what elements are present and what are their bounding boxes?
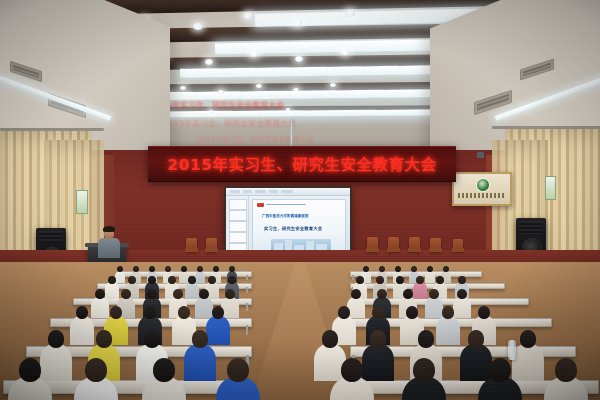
conference-banner-text: 2015年实习生、研究生安全教育大会 — [167, 153, 436, 175]
audience-member-head — [338, 306, 350, 319]
audience-member-head — [341, 358, 363, 382]
audience-member-body — [115, 271, 126, 284]
audience-member-head — [85, 358, 107, 382]
audience-area — [0, 262, 600, 400]
stage-chair-seat — [366, 248, 379, 252]
audience-member-head — [192, 330, 208, 348]
audience-member-body — [70, 316, 95, 345]
slide-thumbnail — [229, 232, 247, 243]
audience-member-head — [128, 276, 135, 284]
audience-member-head — [520, 330, 536, 348]
audience-member-body — [184, 344, 217, 382]
wall-device-box — [477, 152, 484, 158]
stage-chair — [430, 238, 441, 252]
water-bottle — [508, 340, 516, 360]
stage-chair — [367, 237, 378, 252]
audience-member-head — [351, 289, 360, 299]
slide-thumbnail — [229, 210, 247, 221]
stage-chair — [186, 238, 197, 252]
stage-chair — [453, 239, 463, 252]
audience-member-head — [228, 276, 235, 284]
audience-member-head — [199, 289, 208, 299]
audience-member-head — [95, 289, 104, 299]
audience-member-head — [165, 266, 170, 272]
curtain-rail-left — [0, 128, 104, 131]
audience-member-head — [173, 289, 182, 299]
slide-rule — [266, 204, 306, 205]
audience-member-head — [178, 306, 190, 319]
audience-member-head — [168, 276, 175, 284]
powerpoint-tab — [255, 190, 266, 193]
audience-member-body — [425, 271, 436, 284]
audience-member-head — [468, 330, 484, 348]
audience-member-head — [133, 266, 138, 272]
audience-member-body — [425, 297, 444, 319]
wall-notice-sign-left — [76, 190, 88, 214]
audience-member-head — [478, 306, 490, 319]
audience-member-body — [413, 282, 427, 299]
audience-member-head — [377, 289, 386, 299]
audience-member-head — [363, 266, 368, 272]
wall-plaque — [452, 172, 512, 206]
desk-leg — [246, 303, 248, 311]
stage-chair-seat — [408, 248, 421, 252]
ceiling-downlight — [341, 49, 349, 55]
audience-member-head — [108, 276, 115, 284]
loudspeaker-grill — [39, 231, 63, 243]
audience-member-head — [225, 289, 234, 299]
audience-member-head — [213, 266, 218, 272]
stage-chair-seat — [429, 248, 442, 252]
audience-member-head — [458, 276, 465, 284]
institution-emblem-icon — [476, 178, 490, 192]
powerpoint-tab — [230, 190, 240, 193]
audience-member-head — [442, 306, 454, 319]
audience-member-head — [356, 276, 363, 284]
audience-member-head — [395, 266, 400, 272]
stage-chair-seat — [452, 248, 464, 252]
audience-member-body — [40, 344, 73, 382]
audience-member-head — [370, 330, 386, 348]
audience-member-body — [206, 316, 231, 345]
audience-member-body — [460, 344, 493, 382]
audience-member-head — [148, 276, 155, 284]
powerpoint-toolbar — [226, 188, 350, 196]
audience-member-head — [144, 330, 160, 348]
presenter-hair — [103, 226, 115, 232]
audience-member-head — [48, 330, 64, 348]
audience-member-head — [457, 289, 466, 299]
wall-notice-sign-right — [545, 176, 556, 200]
audience-member-head — [96, 330, 112, 348]
stage-chair — [388, 237, 399, 252]
desk-leg — [352, 275, 354, 280]
audience-member-body — [195, 297, 214, 319]
powerpoint-tab — [281, 190, 293, 193]
audience-member-body — [185, 282, 199, 299]
stage-chair-seat — [205, 248, 218, 252]
audience-member-head — [197, 266, 202, 272]
audience-member-head — [429, 289, 438, 299]
audience-member-head — [411, 266, 416, 272]
audience-member-head — [372, 306, 384, 319]
audience-member-head — [212, 306, 224, 319]
stage-chair — [206, 238, 217, 252]
desk-leg — [246, 287, 248, 293]
slide-thumbnail — [229, 199, 247, 210]
ceiling-downlight — [205, 59, 213, 65]
current-slide: 广西中医药大学附属瑞康医院 实习生、研究生安全教育大会 — [252, 199, 346, 255]
plaque-inscription — [458, 193, 506, 198]
audience-member-head — [227, 358, 249, 382]
audience-member-body — [105, 282, 119, 299]
loudspeaker-grill — [519, 221, 543, 234]
slide-logo-icon — [257, 203, 264, 207]
audience-member-body — [195, 271, 206, 284]
audience-member-head — [147, 289, 156, 299]
stage-chair-seat — [185, 248, 198, 252]
audience-member-head — [149, 266, 154, 272]
powerpoint-tab — [269, 190, 278, 193]
audience-member-head — [322, 330, 338, 348]
audience-member-head — [110, 306, 122, 319]
audience-member-head — [144, 306, 156, 319]
banner-reflection: 2015年实习生、研究生安全教育大会 — [162, 118, 296, 129]
curtain-rail-right — [492, 126, 600, 129]
conference-banner: 2015年实习生、研究生安全教育大会 — [148, 146, 456, 182]
audience-member-head — [153, 358, 175, 382]
audience-member-head — [555, 358, 577, 382]
audience-member-head — [376, 276, 383, 284]
audience-member-head — [208, 276, 215, 284]
audience-member-head — [379, 266, 384, 272]
ceiling-downlight — [250, 51, 258, 57]
audience-member-head — [427, 266, 432, 272]
audience-member-head — [443, 266, 448, 272]
audience-member-head — [229, 266, 234, 272]
audience-member-body — [362, 344, 395, 382]
ceiling-downlight — [286, 108, 290, 111]
presenter-body — [98, 238, 120, 258]
audience-member-head — [489, 358, 511, 382]
audience-member-body — [512, 344, 545, 382]
audience-member-head — [403, 289, 412, 299]
audience-member-head — [76, 306, 88, 319]
slide-title: 广西中医药大学附属瑞康医院 — [262, 213, 309, 218]
slide-thumbnail — [229, 221, 247, 232]
slide-subtitle: 实习生、研究生安全教育大会 — [264, 226, 322, 232]
audience-member-head — [121, 289, 130, 299]
conference-hall-photo: 2015年实习生、研究生安全教育大会 2015年实习生、研究生安全教育大会 20… — [0, 0, 600, 400]
audience-member-head — [396, 276, 403, 284]
banner-reflection: 2015年实习生、研究生安全教育大会 — [196, 135, 313, 145]
audience-member-body — [436, 316, 461, 345]
audience-member-head — [117, 266, 122, 272]
audience-member-body — [91, 297, 110, 319]
audience-member-head — [188, 276, 195, 284]
audience-member-head — [19, 358, 41, 382]
audience-member-body — [453, 297, 472, 319]
stage-chair — [409, 237, 420, 252]
banner-reflection: 2015年实习生、研究生安全教育大会 — [150, 100, 284, 111]
audience-member-head — [413, 358, 435, 382]
desk-leg — [246, 275, 248, 280]
desk-leg — [246, 325, 248, 335]
audience-member-head — [406, 306, 418, 319]
ceiling-downlight — [295, 56, 303, 62]
powerpoint-tab — [243, 190, 252, 193]
audience-member-head — [416, 276, 423, 284]
audience-member-head — [418, 330, 434, 348]
stage-chair-seat — [387, 248, 400, 252]
audience-member-head — [436, 276, 443, 284]
audience-member-head — [181, 266, 186, 272]
